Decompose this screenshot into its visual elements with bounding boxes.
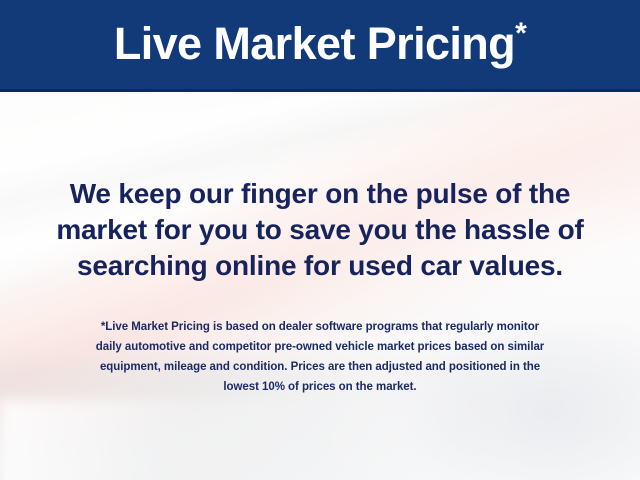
headline-line-3: searching online for used car values. (0, 248, 640, 284)
headline: We keep our finger on the pulse of the m… (0, 176, 640, 284)
disclaimer-line-3: equipment, mileage and condition. Prices… (20, 357, 620, 377)
disclaimer-line-4: lowest 10% of prices on the market. (20, 377, 620, 397)
disclaimer-line-1: *Live Market Pricing is based on dealer … (20, 317, 620, 337)
banner-title-asterisk: * (515, 17, 526, 50)
header-banner: Live Market Pricing* (0, 0, 640, 92)
banner-title-text: Live Market Pricing (114, 18, 515, 69)
headline-line-1: We keep our finger on the pulse of the (0, 176, 640, 212)
live-market-pricing-promo: Live Market Pricing* We keep our finger … (0, 0, 640, 480)
disclaimer-text: *Live Market Pricing is based on dealer … (20, 317, 620, 397)
banner-title: Live Market Pricing* (114, 21, 526, 69)
disclaimer-line-2: daily automotive and competitor pre-owne… (20, 337, 620, 357)
headline-line-2: market for you to save you the hassle of (0, 212, 640, 248)
